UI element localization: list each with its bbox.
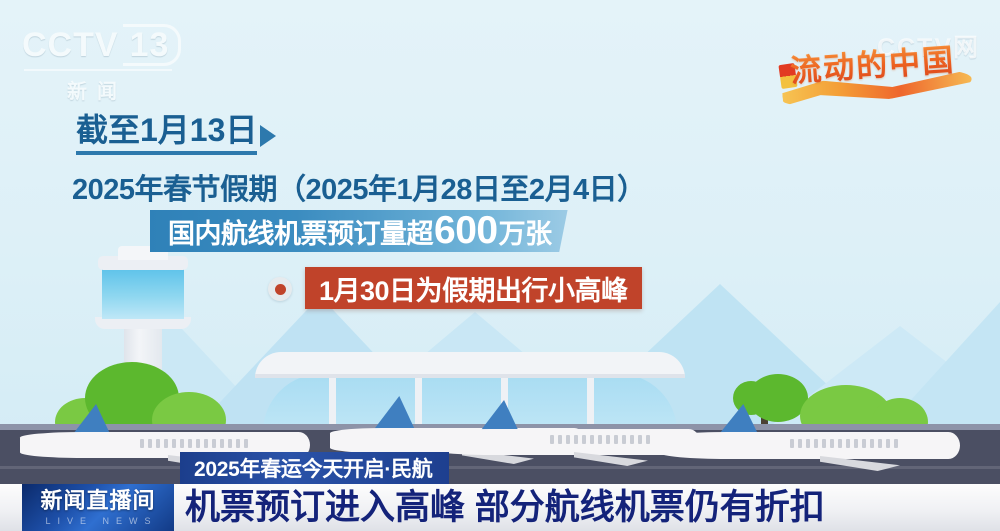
statistic-prefix: 国内航线机票预订量超	[168, 212, 433, 251]
tower-glass	[102, 269, 184, 319]
statistic-banner-blue: 国内航线机票预订量超600万张	[150, 210, 568, 252]
terminal-roof	[255, 352, 685, 378]
broadcast-screenshot: CCTV 13 新闻 CCTV网 流动的中国 截至1月13日 2025年春节假期…	[0, 0, 1000, 531]
statistic-number: 600	[433, 211, 499, 250]
headline-date-text: 截至1月13日	[76, 114, 257, 155]
tree-foliage	[748, 374, 808, 422]
headline-date-line: 截至1月13日	[76, 114, 276, 155]
program-logo: CCTV网 流动的中国	[776, 22, 986, 108]
airplane-windows	[790, 439, 898, 448]
peak-day-text: 1月30日为假期出行小高峰	[319, 269, 628, 308]
airplane-right	[660, 418, 970, 466]
lower-third-topic-text: 2025年春运今天开启·民航	[194, 453, 433, 483]
statistic-banner-content: 国内航线机票预订量超600万张	[168, 211, 552, 251]
program-brand-badge: 新闻直播间 LIVE NEWS	[22, 484, 174, 531]
lower-third-headline: 机票预订进入高峰 部分航线机票仍有折扣	[185, 487, 825, 529]
statistic-suffix: 万张	[499, 212, 552, 251]
lower-third-topic-bar: 2025年春运今天开启·民航	[180, 452, 449, 484]
headline-period-text: 2025年春节假期（2025年1月28日至2月4日）	[72, 166, 646, 208]
bullet-marker-icon	[268, 277, 292, 301]
statistic-banner-red: 1月30日为假期出行小高峰	[305, 267, 642, 309]
program-brand-name-en: LIVE NEWS	[38, 516, 157, 526]
triangle-right-icon	[260, 125, 276, 147]
airplane-windows	[550, 435, 650, 444]
program-brand-name: 新闻直播间	[40, 490, 155, 512]
airplane-windows	[140, 439, 248, 448]
